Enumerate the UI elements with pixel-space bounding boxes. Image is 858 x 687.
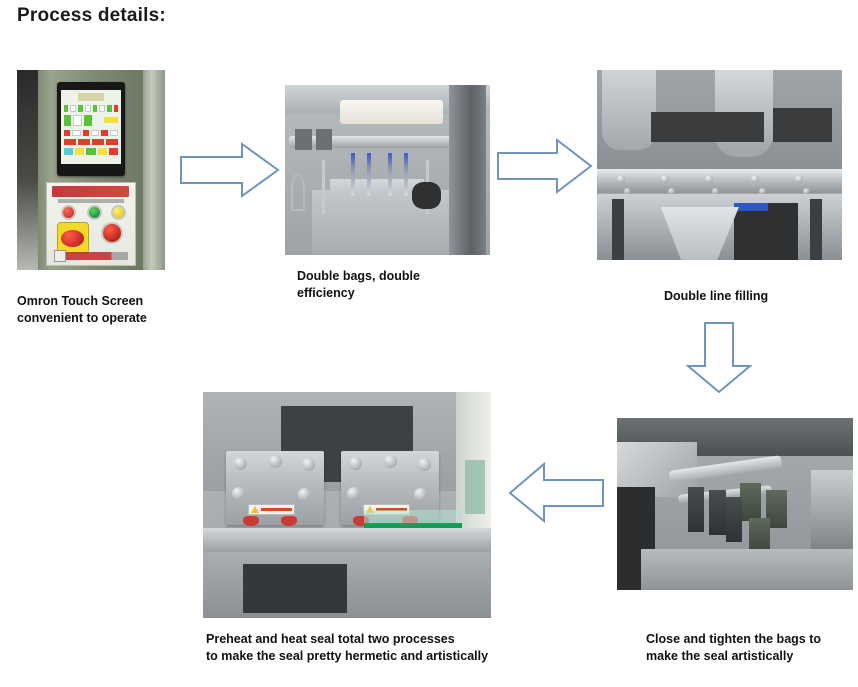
filling-nozzle-2	[367, 153, 371, 196]
machine-model-text	[52, 186, 129, 197]
warning-label-left	[248, 504, 295, 515]
photo-double-line-filling	[597, 70, 842, 260]
seal-bolt-l5	[298, 488, 311, 501]
conveyor-track	[203, 528, 491, 553]
gripper-jaw-1	[740, 483, 761, 521]
hmi-bezel	[57, 82, 125, 176]
seal-bolt-r4	[347, 487, 360, 500]
caption-step-3: Double line filling	[664, 288, 858, 305]
guide-block-1	[688, 487, 705, 532]
warning-label-bar-left	[261, 508, 292, 511]
seal-bolt-l1	[234, 457, 247, 470]
rail-bolt-4	[751, 175, 759, 183]
arrow-down-step3-to-step4	[686, 322, 752, 394]
lower-dark-housing	[734, 203, 798, 260]
sealing-head-left	[226, 451, 324, 526]
frame-leg-right	[810, 199, 822, 260]
caption-step-1: Omron Touch Screen convenient to operate	[17, 293, 197, 327]
caption-step-2: Double bags, double efficiency	[297, 268, 497, 302]
photo2-content	[285, 85, 490, 255]
photo-double-bag-station	[285, 85, 490, 255]
machine-model-sub-text	[58, 199, 124, 203]
cabinet-right-post	[143, 70, 165, 270]
green-guard-right	[465, 460, 485, 514]
dark-bracket-right	[773, 108, 832, 142]
rail-bolt-2	[661, 175, 669, 183]
cabinet-body	[38, 70, 145, 270]
arrow-right-step2-to-step3	[497, 138, 593, 194]
emergency-stop-knob[interactable]	[61, 230, 84, 247]
control-panel-plate	[46, 182, 135, 266]
right-support-block	[811, 470, 853, 549]
cabinet-left-shadow	[17, 70, 38, 270]
filling-nozzle-4	[404, 153, 408, 196]
seal-bolt-r2	[384, 455, 397, 468]
hmi-row-2	[64, 115, 92, 125]
seal-bolt-l3	[302, 458, 315, 471]
rail-bolt-3	[705, 175, 713, 183]
filling-nozzle-3	[388, 153, 392, 196]
seal-bolt-r5	[414, 488, 427, 501]
key-switch[interactable]	[101, 222, 123, 244]
filling-nozzle-1	[351, 153, 355, 196]
photo-omron-touch-screen	[17, 70, 165, 270]
gripper-jaw-3	[749, 518, 770, 552]
process-details-page: Process details:	[0, 0, 858, 687]
frame-leg-left	[612, 199, 624, 260]
hanging-hook	[291, 173, 305, 210]
white-plastic-block	[340, 100, 443, 124]
guide-block-2	[709, 490, 726, 535]
hopper-left	[602, 70, 656, 150]
seal-bolt-r3	[418, 458, 431, 471]
indicator-lamp-red[interactable]	[61, 205, 76, 220]
seal-bolt-l2	[269, 455, 282, 468]
hmi-title-bar	[78, 93, 104, 100]
arrow-left-step4-to-step5	[508, 462, 604, 524]
rail-clamp-1	[295, 129, 311, 149]
hmi-row-4	[64, 139, 118, 146]
guide-block-3	[726, 497, 743, 542]
caption-step-4: Close and tighten the bags to make the s…	[646, 631, 858, 665]
rail-clamp-2	[316, 129, 332, 149]
hmi-row-1	[64, 105, 118, 112]
lower-dark-housing	[243, 564, 347, 614]
hmi-row-5	[64, 148, 118, 155]
indicator-lamp-green[interactable]	[87, 205, 102, 220]
hmi-row-3	[64, 130, 118, 136]
page-title: Process details:	[17, 5, 166, 27]
arrow-right-step1-to-step2	[180, 142, 280, 198]
hmi-screen	[61, 90, 121, 163]
seal-bolt-r1	[349, 457, 362, 470]
dark-bracket-center	[651, 112, 764, 142]
photo3-content	[597, 70, 842, 260]
warning-triangle-icon-left	[251, 506, 259, 513]
rail-bolt-1	[617, 175, 625, 183]
guide-rod-left	[322, 160, 325, 214]
machine-base-plate	[641, 549, 853, 590]
machine-opening	[412, 182, 441, 209]
manufacturer-logo	[54, 250, 66, 261]
photo1-content	[17, 70, 165, 270]
photo-preheat-heat-seal	[203, 392, 491, 618]
seal-bolt-l4	[232, 487, 245, 500]
hmi-row-2b	[104, 117, 118, 123]
photo5-content	[203, 392, 491, 618]
caption-step-5: Preheat and heat seal total two processe…	[206, 631, 506, 665]
frame-right-column	[449, 85, 486, 255]
blue-air-tube	[734, 203, 768, 211]
photo4-content	[617, 418, 853, 590]
photo-close-and-tighten	[617, 418, 853, 590]
rail-bolt-5	[795, 175, 803, 183]
indicator-lamp-yellow[interactable]	[111, 205, 126, 220]
